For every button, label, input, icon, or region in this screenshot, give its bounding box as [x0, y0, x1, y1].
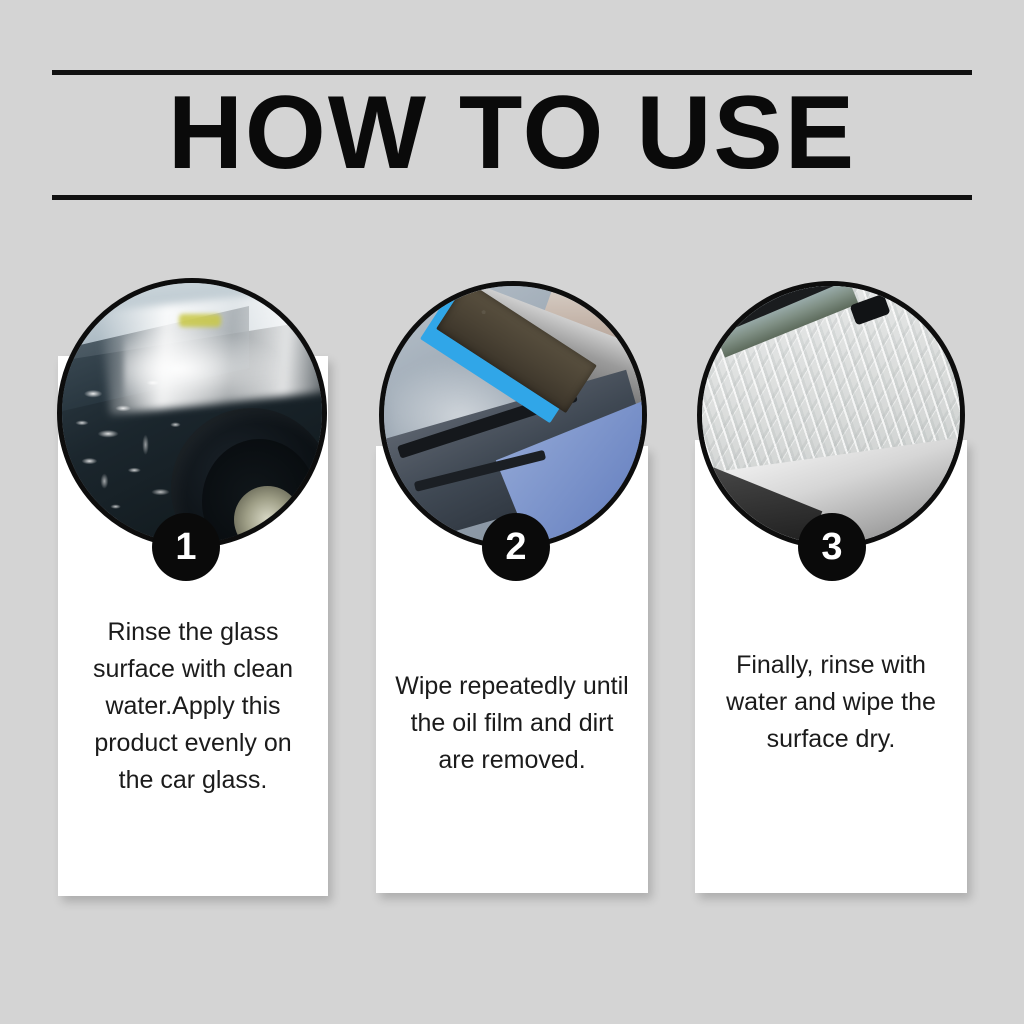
page-title: HOW TO USE — [52, 75, 972, 195]
step-badge-1: 1 — [152, 513, 220, 581]
header: HOW TO USE — [52, 70, 972, 200]
water-mist — [124, 330, 280, 408]
step-3-description: Finally, rinse with water and wipe the s… — [711, 647, 951, 758]
step-1-description: Rinse the glass surface with clean water… — [74, 614, 312, 799]
step-2-photo — [379, 281, 647, 549]
infographic-page: HOW TO USE Rinse the glass surface with … — [0, 0, 1024, 1024]
step-2-description: Wipe repeatedly until the oil film and d… — [392, 668, 632, 779]
step-1-photo — [57, 278, 327, 548]
yellow-highlight — [179, 314, 221, 327]
step-badge-3: 3 — [798, 513, 866, 581]
photo-1-scene — [62, 283, 322, 543]
step-badge-2: 2 — [482, 513, 550, 581]
title-rule-bottom — [52, 195, 972, 200]
photo-3-scene — [702, 286, 960, 544]
photo-2-scene — [384, 286, 642, 544]
step-3-photo — [697, 281, 965, 549]
